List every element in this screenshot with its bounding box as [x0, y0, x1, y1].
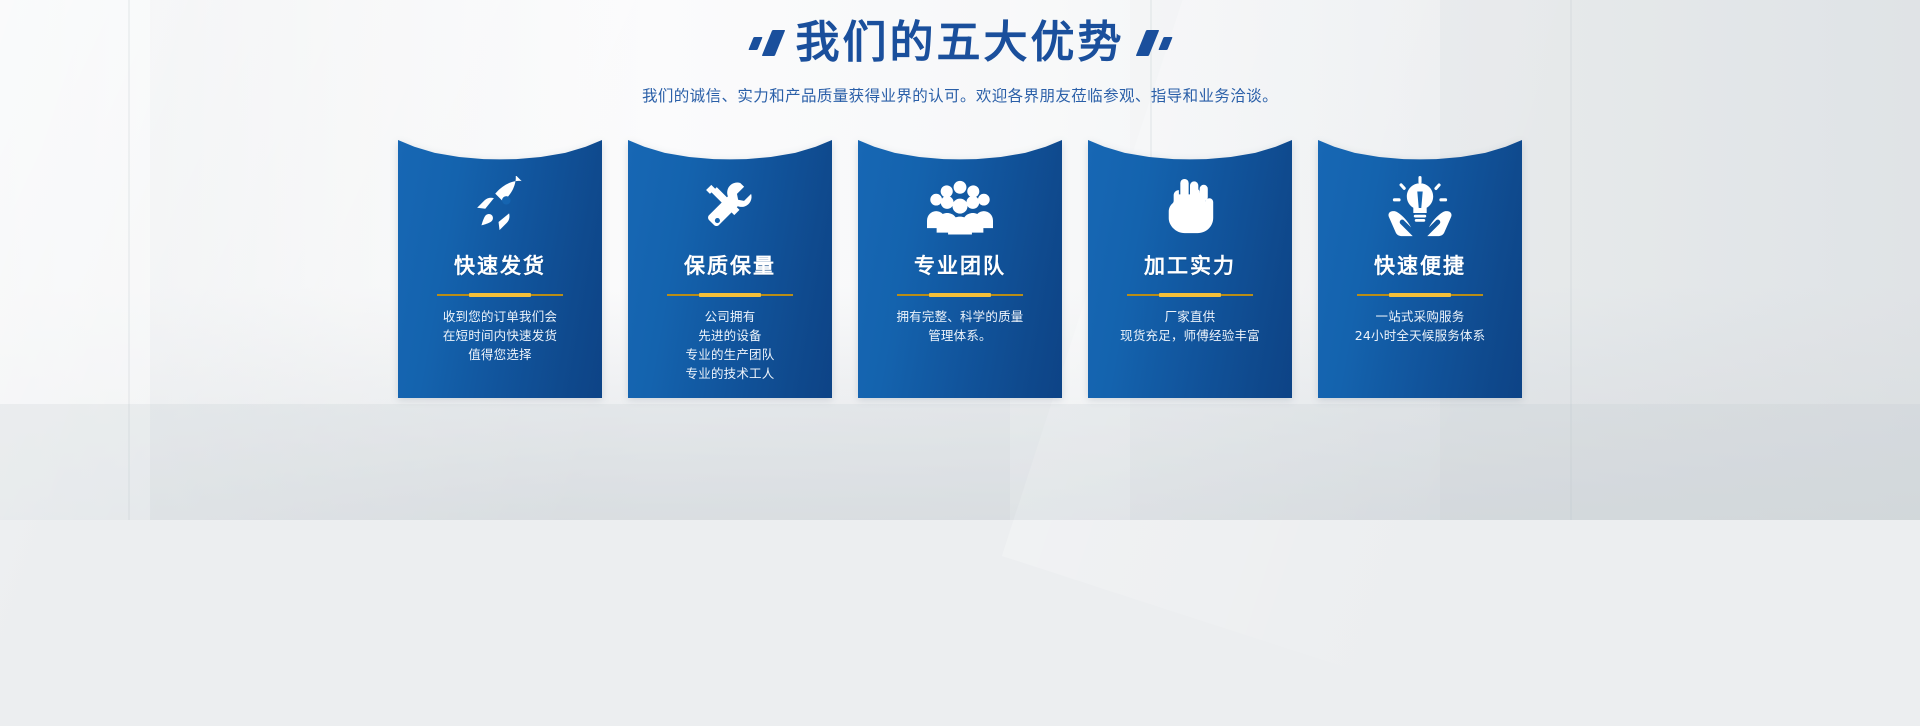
card-desc-line: 值得您选择 — [443, 345, 557, 364]
card-divider — [897, 293, 1023, 296]
card-desc-line: 一站式采购服务 — [1355, 307, 1486, 326]
card-title: 专业团队 — [914, 250, 1006, 280]
section-header: 我们的五大优势 我们的诚信、实力和产品质量获得业界的认可。欢迎各界朋友莅临参观、… — [0, 0, 1920, 106]
card-divider — [1357, 293, 1483, 296]
advantage-card-list: 快速发货 收到您的订单我们会 在短时间内快速发货 值得您选择 — [0, 140, 1920, 398]
card-desc-line: 先进的设备 — [686, 326, 775, 345]
title-row: 我们的五大优势 — [0, 0, 1920, 72]
card-desc-line: 公司拥有 — [686, 307, 775, 326]
advantage-card[interactable]: 加工实力 厂家直供 现货充足，师傅经验丰富 — [1088, 140, 1292, 398]
card-desc-line: 管理体系。 — [896, 326, 1023, 345]
rocket-icon — [469, 178, 531, 236]
card-description: 一站式采购服务 24小时全天候服务体系 — [1347, 307, 1494, 345]
card-title: 快速发货 — [454, 250, 546, 280]
card-description: 拥有完整、科学的质量 管理体系。 — [888, 307, 1031, 345]
fist-icon — [1161, 178, 1219, 236]
card-divider — [667, 293, 793, 296]
card-description: 收到您的订单我们会 在短时间内快速发货 值得您选择 — [435, 307, 565, 364]
card-desc-line: 现货充足，师傅经验丰富 — [1120, 326, 1260, 345]
card-description: 公司拥有 先进的设备 专业的生产团队 专业的技术工人 — [678, 307, 783, 383]
card-description: 厂家直供 现货充足，师傅经验丰富 — [1112, 307, 1268, 345]
diamond-slash-icon — [1141, 30, 1170, 56]
wrench-screwdriver-icon — [699, 178, 761, 236]
card-desc-line: 专业的技术工人 — [686, 364, 775, 383]
card-desc-line: 收到您的订单我们会 — [443, 307, 557, 326]
card-desc-line: 拥有完整、科学的质量 — [896, 307, 1023, 326]
page-title: 我们的五大优势 — [796, 21, 1125, 65]
card-divider — [1127, 293, 1253, 296]
card-title: 快速便捷 — [1374, 250, 1466, 280]
card-desc-line: 专业的生产团队 — [686, 345, 775, 364]
card-desc-line: 24小时全天候服务体系 — [1355, 326, 1486, 345]
advantage-card[interactable]: 专业团队 拥有完整、科学的质量 管理体系。 — [858, 140, 1062, 398]
advantage-card[interactable]: 快速便捷 一站式采购服务 24小时全天候服务体系 — [1318, 140, 1522, 398]
card-title: 保质保量 — [684, 250, 776, 280]
card-divider — [437, 293, 563, 296]
advantage-card[interactable]: 快速发货 收到您的订单我们会 在短时间内快速发货 值得您选择 — [398, 140, 602, 398]
advantage-card[interactable]: 保质保量 公司拥有 先进的设备 专业的生产团队 专业的技术工人 — [628, 140, 832, 398]
team-group-icon — [927, 178, 993, 236]
card-desc-line: 厂家直供 — [1120, 307, 1260, 326]
lightbulb-hands-icon — [1387, 178, 1453, 236]
card-title: 加工实力 — [1144, 250, 1236, 280]
card-desc-line: 在短时间内快速发货 — [443, 326, 557, 345]
diamond-slash-icon — [751, 30, 780, 56]
page-subtitle: 我们的诚信、实力和产品质量获得业界的认可。欢迎各界朋友莅临参观、指导和业务洽谈。 — [0, 84, 1920, 106]
